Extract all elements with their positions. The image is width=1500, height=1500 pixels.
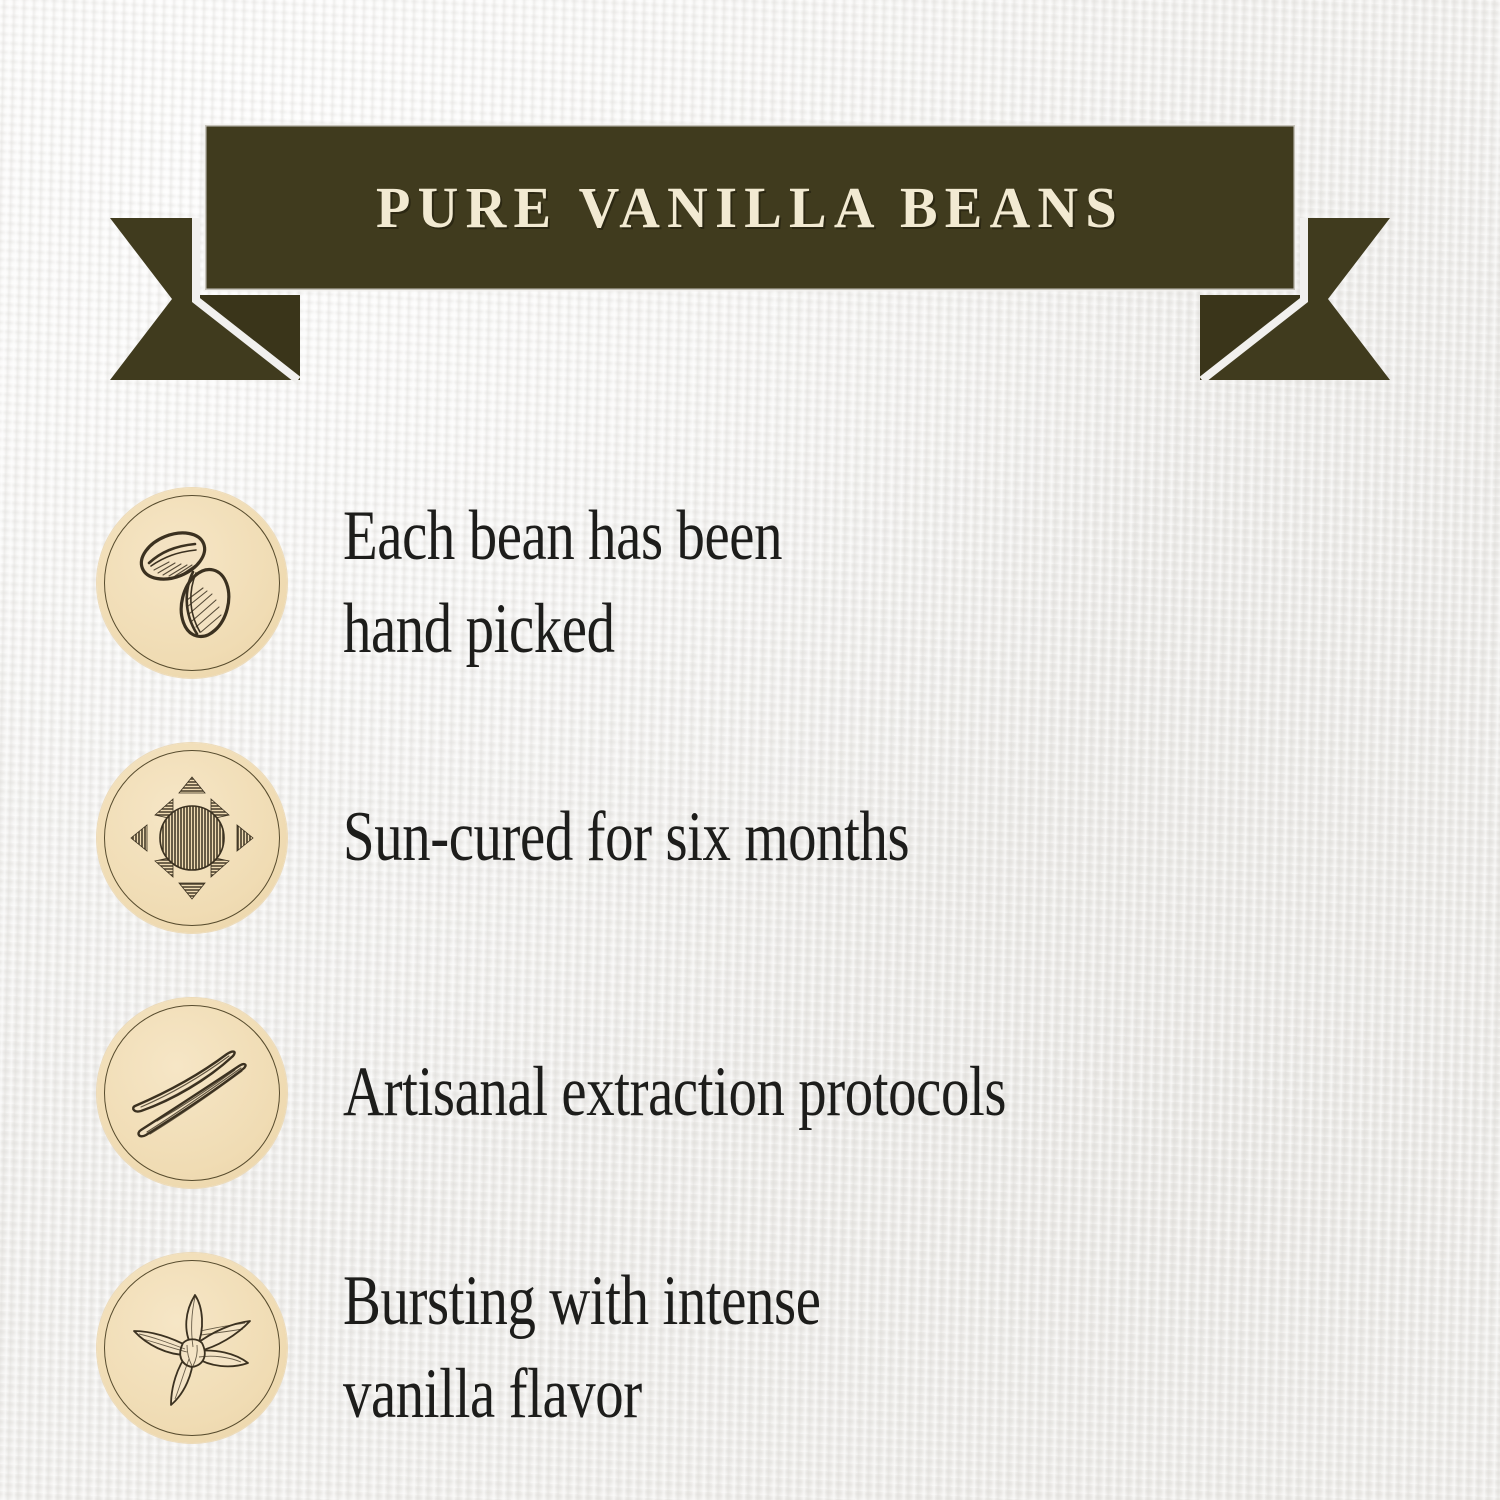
feature-text-1: Each bean has been hand picked: [343, 490, 1269, 675]
feature-badge-3: [97, 998, 287, 1188]
feature-text-3: Artisanal extraction protocols: [343, 1046, 1269, 1138]
feature-text-2: Sun-cured for six months: [343, 791, 1269, 883]
vanilla-beans-icon: [117, 508, 267, 658]
sun-disc: [160, 806, 224, 870]
list-item: Sun-cured for six months: [0, 710, 1500, 965]
sun-ray-top: [179, 777, 205, 793]
list-item: Each bean has been hand picked: [0, 455, 1500, 710]
feature-badge-4: [97, 1253, 287, 1443]
sun-icon: [117, 763, 267, 913]
sun-ray-right: [237, 825, 253, 851]
list-item: Bursting with intense vanilla flavor: [0, 1220, 1500, 1475]
product-feature-card: PURE VANILLA BEANS: [0, 0, 1500, 1500]
feature-list: Each bean has been hand picked: [0, 455, 1500, 1475]
feature-badge-2: [97, 743, 287, 933]
feature-text-4: Bursting with intense vanilla flavor: [343, 1255, 1269, 1440]
page-title: PURE VANILLA BEANS: [221, 125, 1278, 290]
list-item: Artisanal extraction protocols: [0, 965, 1500, 1220]
vanilla-pods-icon: [117, 1018, 267, 1168]
sun-ray-left: [131, 825, 147, 851]
banner: PURE VANILLA BEANS: [0, 0, 1500, 420]
vanilla-flower-icon: [117, 1273, 267, 1423]
feature-badge-1: [97, 488, 287, 678]
sun-ray-bottom: [179, 883, 205, 899]
